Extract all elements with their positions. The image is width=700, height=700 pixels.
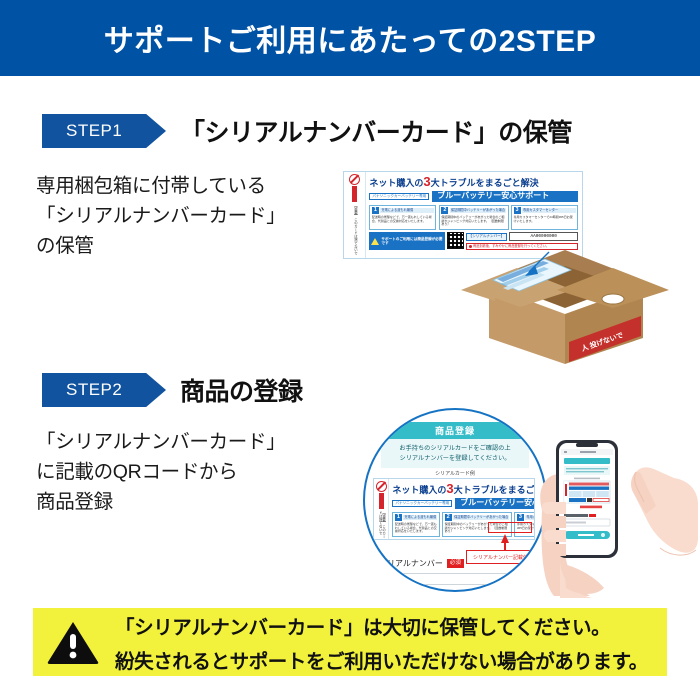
card-benefit-title: 保証期間中バッテリーがあがった場合 [453, 515, 509, 520]
step2-badge-label: STEP2 [66, 380, 122, 400]
card-benefit-item: 2 保証期間中バッテリーがあがった場合 保証期間中のバッテリーがあがった場合のご… [439, 205, 509, 230]
card-benefit-columns: 1 充電による液もれ補償 配送時の衝撃などで、万一液もれしている場合、代替品との… [369, 205, 578, 230]
step1-badge-label: STEP1 [66, 121, 122, 141]
card-benefit-item: 3 専用カスタマーセンター 専用カスタマーセンターで24時間365日お受けいたし… [511, 205, 578, 230]
card-subtitle-row: パナソニックカーバッテリー専用 ブルーバッテリー安心サポート [369, 191, 578, 203]
page-header: サポートご利用にあたっての2STEP [0, 0, 700, 76]
card-title-pre: ネット購入の [369, 179, 423, 188]
page-title: サポートご利用にあたっての2STEP [104, 16, 597, 60]
card-title-post: 大トラブルをまるごと解決 [454, 486, 535, 495]
card-benefit-title: 保証期間中バッテリーがあがった場合 [450, 208, 506, 213]
card-side-note: 【重要】このカードは捨てないで [353, 204, 356, 255]
card-benefit-number: 2 [441, 207, 448, 214]
card-serial-row: 【シリアルナンバー】 AA00000000 [466, 232, 579, 241]
step2-body-line1: 「シリアルナンバーカード」 [36, 428, 285, 458]
registration-panel-desc: お手持ちのシリアルカードをご確認の上 シリアルナンバーを登録してください。 [381, 439, 529, 468]
card-benefit-body: 専用カスタマーセンターで24時間365日お受けいたします。 [514, 216, 576, 224]
card-benefit-number: 3 [514, 207, 521, 214]
no-discard-icon [349, 174, 360, 185]
card-title: ネット購入の3大トラブルをまるごと解決 [392, 482, 530, 495]
warning-line-2: 紛失されるとサポートをご利用いただけない場合があります。 [115, 645, 648, 674]
step1-body-line1: 専用梱包箱に付帯している [36, 172, 266, 202]
step2-badge: STEP2 [42, 373, 166, 407]
warning-triangle-icon [47, 620, 99, 664]
warning-banner: 「シリアルナンバーカード」は大切に保管してください。 紛失されるとサポートをご利… [33, 608, 667, 676]
card-benefit-number: 1 [372, 207, 379, 214]
card-title-big: 3 [423, 175, 430, 188]
card-benefit-number: 1 [395, 514, 402, 521]
card-benefit-title: 充電による液もれ補償 [403, 515, 437, 520]
warning-text: 「シリアルナンバーカード」は大切に保管してください。 紛失されるとサポートをご利… [115, 611, 648, 674]
no-discard-icon [376, 481, 387, 492]
step1-body-line2: 「シリアルナンバーカード」 [36, 202, 285, 232]
registration-form-strip: シリアルナンバー 必須 [365, 558, 545, 585]
warning-line-1: 「シリアルナンバーカード」は大切に保管してください。 [115, 611, 648, 640]
card-support-note: サポートのご利用には商品登録が必要です [369, 232, 444, 250]
required-badge: 必須 [447, 559, 464, 568]
card-serial-row: 【シリアルナンバー】 AA00000000 [463, 539, 535, 540]
step2-heading: 商品の登録 [180, 372, 303, 408]
card-benefit-number: 2 [445, 514, 452, 521]
card-brand-tag: パナソニックカーバッテリー専用 [392, 500, 452, 508]
card-benefit-item: 1 充電による液もれ補償 配送時の衝撃などで、万一液もれしている場合、代替品との… [392, 512, 439, 537]
card-benefit-title: 専用カスタマーセンター [522, 208, 575, 213]
card-bottom-row: サポートのご利用には商品登録が必要です 【シリアルナンバー】 AA0000000… [392, 539, 530, 540]
step2-illustration: 商品登録 お手持ちのシリアルカードをご確認の上 シリアルナンバーを登録してくださ… [355, 398, 700, 603]
registration-form-label: シリアルナンバー [379, 558, 443, 569]
serial-number-input[interactable] [379, 573, 531, 585]
sidebar-red-band [379, 493, 384, 509]
card-brand-tag: パナソニックカーバッテリー専用 [369, 193, 429, 201]
cardboard-box-illustration: 人 投げないで [445, 246, 685, 371]
registration-example-label: シリアルカード例 [381, 470, 529, 477]
step1-badge: STEP1 [42, 114, 166, 148]
card-warning-sidebar: 【重要】このカードは捨てないで [344, 172, 366, 258]
card-title: ネット購入の3大トラブルをまるごと解決 [369, 175, 578, 188]
card-title-pre: ネット購入の [392, 486, 446, 495]
card-subtitle: ブルーバッテリー安心サポート [432, 191, 578, 203]
registration-form-label-row: シリアルナンバー 必須 [365, 558, 545, 569]
card-benefit-title: 充電による液もれ補償 [380, 208, 433, 213]
qr-code-icon [444, 539, 461, 540]
card-benefit-number: 3 [517, 514, 524, 521]
card-title-post: 大トラブルをまるごと解決 [431, 179, 539, 188]
sidebar-red-band [352, 186, 357, 202]
card-benefit-body: 配送時の衝撃などで、万一液もれしている場合、代替品との交換対応をいたします。 [395, 523, 437, 534]
step2-body-line3: 商品登録 [36, 488, 113, 518]
step1-body-line3: の保管 [36, 232, 94, 262]
registration-panel-title: 商品登録 [381, 422, 529, 439]
step2-body-line2: に記載のQRコードから [36, 458, 237, 488]
registration-desc-line2: シリアルナンバーを登録してください。 [400, 455, 511, 462]
serial-position-highlight [488, 522, 532, 533]
card-benefit-head: 1 充電による液もれ補償 [372, 207, 434, 214]
registration-desc-line1: お手持ちのシリアルカードをご確認の上 [399, 445, 510, 452]
step1-illustration: 【重要】このカードは捨てないで ネット購入の3大トラブルをまるごと解決 パナソニ… [340, 168, 690, 368]
registration-magnifier: 商品登録 お手持ちのシリアルカードをご確認の上 シリアルナンバーを登録してくださ… [363, 408, 547, 592]
card-benefit-body: 保証期間中のバッテリーがあがった場合のご相談やジャンピング対応いたします。（回数… [441, 216, 506, 227]
card-benefit-item: 1 充電による液もれ補償 配送時の衝撃などで、万一液もれしている場合、代替品との… [369, 205, 436, 230]
card-benefit-head: 3 専用カスタマーセンター [514, 207, 576, 214]
card-side-note: 【重要】このカードは捨てないで [378, 511, 385, 539]
card-warning-sidebar: 【重要】このカードは捨てないで [374, 479, 389, 539]
mini-warning-icon [371, 238, 379, 245]
card-title-big: 3 [446, 482, 453, 495]
card-serial-value: AA00000000 [509, 232, 578, 241]
step1-heading: 「シリアルナンバーカード」の保管 [180, 113, 572, 149]
card-subtitle: ブルーバッテリー安心サポート [455, 498, 535, 510]
card-benefit-head: 2 保証期間中バッテリーがあがった場合 [445, 514, 510, 521]
card-serial-area: 【シリアルナンバー】 AA00000000 商品到着後、すみやかに商品登録を行っ… [463, 539, 535, 540]
card-benefit-head: 2 保証期間中バッテリーがあがった場合 [441, 207, 506, 214]
card-benefit-body: 配送時の衝撃などで、万一液もれしている場合、代替品との交換対応をいたします。 [372, 216, 434, 224]
card-subtitle-row: パナソニックカーバッテリー専用 ブルーバッテリー安心サポート [392, 498, 530, 510]
phone-in-hand-illustration [530, 418, 700, 603]
registration-screen: 商品登録 お手持ちのシリアルカードをご確認の上 シリアルナンバーを登録してくださ… [365, 410, 545, 590]
card-support-text: サポートのご利用には商品登録が必要です [381, 237, 442, 245]
card-support-note: サポートのご利用には商品登録が必要です [392, 539, 442, 540]
card-serial-label: 【シリアルナンバー】 [466, 233, 508, 241]
card-benefit-head: 1 充電による液もれ補償 [395, 514, 437, 521]
